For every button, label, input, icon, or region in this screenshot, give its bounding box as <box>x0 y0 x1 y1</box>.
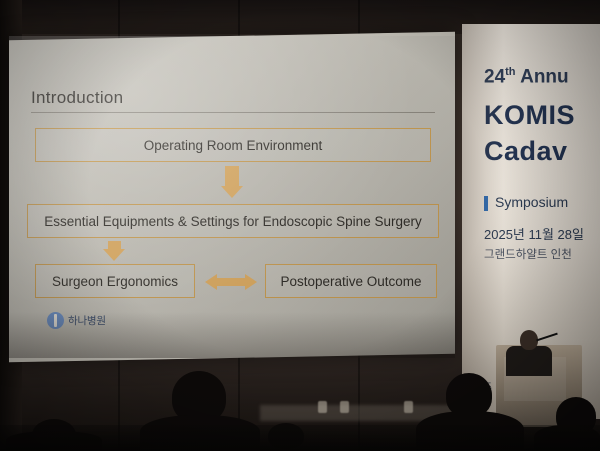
slide-title-divider <box>31 112 435 113</box>
banner-accent-bar <box>484 196 488 211</box>
speaker-head <box>520 330 538 350</box>
banner-line-1-rest: Annu <box>516 66 569 87</box>
double-arrow-left-head <box>205 274 217 290</box>
projected-slide: Introduction Operating Room Environment … <box>9 36 455 358</box>
speaker-body <box>506 346 552 376</box>
arrow-down-2-head-icon <box>103 249 125 261</box>
conference-photo-scene: Introduction Operating Room Environment … <box>0 0 600 451</box>
banner-line-3: Cadav <box>484 136 568 167</box>
flow-box-bottom-right-label: Postoperative Outcome <box>280 274 421 289</box>
banner-date: 2025년 11월 28일 <box>484 224 584 243</box>
arrow-down-1-head-icon <box>221 186 243 198</box>
double-arrow-right-head <box>245 274 257 290</box>
flow-box-top-label: Operating Room Environment <box>144 138 323 153</box>
projection-screen: Introduction Operating Room Environment … <box>9 32 455 363</box>
banner-venue: 그랜드하얄트 인천 <box>484 246 572 262</box>
banner-ordinal-suffix: th <box>505 66 515 78</box>
flow-box-surgeon-ergonomics: Surgeon Ergonomics <box>35 264 195 298</box>
arrow-down-1-stem <box>225 166 239 188</box>
flow-box-bottom-left-label: Surgeon Ergonomics <box>52 274 178 289</box>
banner-symposium-label: Symposium <box>495 194 568 210</box>
flow-box-postoperative-outcome: Postoperative Outcome <box>265 264 437 298</box>
banner-line-1: 24th Annu <box>484 66 569 88</box>
hospital-logo-mark-icon <box>47 312 64 329</box>
banner-footer-label: 주 <box>482 379 492 395</box>
slide-title: Introduction <box>31 88 123 108</box>
hospital-logo-text: 하나병원 <box>68 313 106 328</box>
flow-box-essential-equipments: Essential Equipments & Settings for Endo… <box>27 204 439 238</box>
double-arrow-bar <box>216 278 246 286</box>
flow-box-middle-label: Essential Equipments & Settings for Endo… <box>44 214 421 229</box>
double-arrow-icon <box>205 274 257 290</box>
slide-hospital-logo: 하나병원 <box>47 312 106 329</box>
flow-box-operating-room-environment: Operating Room Environment <box>35 128 431 162</box>
banner-line-2: KOMIS <box>484 100 575 131</box>
